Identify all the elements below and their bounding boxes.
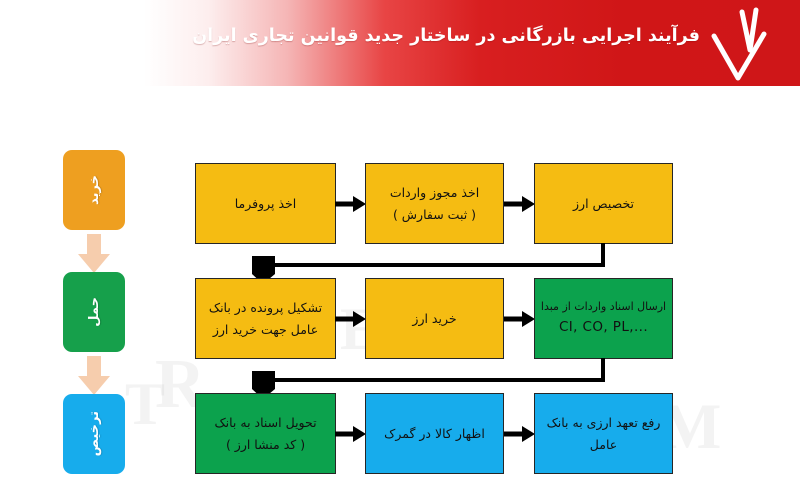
- flow-node[interactable]: اخذ مجوز واردات ( ثبت سفارش ): [365, 163, 504, 244]
- flow-node-line: عامل: [590, 434, 617, 456]
- watermark-letter: T: [125, 370, 165, 439]
- flow-node-line: ( ثبت سفارش ): [393, 204, 476, 226]
- down-arrow-icon: [76, 356, 112, 396]
- flow-node-line: تشکیل پرونده در بانک: [209, 297, 322, 319]
- flow-node[interactable]: تحویل اسناد به بانک ( کد منشا ارز ): [195, 393, 336, 474]
- phase-chip-purchase[interactable]: خرید: [63, 150, 125, 230]
- flow-node-line: اظهار کالا در گمرک: [384, 423, 485, 445]
- flow-node-line: اخذ مجوز واردات: [390, 182, 479, 204]
- flow-node-line: تحویل اسناد به بانک: [214, 412, 316, 434]
- flow-node-line: عامل جهت خرید ارز: [213, 319, 318, 341]
- flow-node-line: CI, CO, PL,...: [559, 316, 648, 340]
- flow-node[interactable]: اظهار کالا در گمرک: [365, 393, 504, 474]
- phase-label: ترخیص: [87, 411, 102, 456]
- phase-label: خرید: [87, 175, 102, 205]
- flow-node-line: رفع تعهد ارزی به بانک: [547, 412, 661, 434]
- flow-node[interactable]: خرید ارز: [365, 278, 504, 359]
- right-arrow-icon: [335, 310, 366, 328]
- chevron-m-logo-icon: [698, 4, 780, 82]
- flow-node[interactable]: اخذ پروفرما: [195, 163, 336, 244]
- flow-node[interactable]: رفع تعهد ارزی به بانک عامل: [534, 393, 673, 474]
- flow-node[interactable]: تخصیص ارز: [534, 163, 673, 244]
- flow-node-line: اخذ پروفرما: [235, 193, 297, 215]
- page-title: فرآیند اجرایی بازرگانی در ساختار جدید قو…: [80, 26, 700, 47]
- flow-node-line: ارسال اسناد واردات از مبدا: [541, 297, 666, 316]
- slide-canvas: R T E P M فرآیند اجرایی بازرگانی در ساخت…: [0, 0, 800, 500]
- phase-chip-clearance[interactable]: ترخیص: [63, 394, 125, 474]
- right-arrow-icon: [504, 195, 535, 213]
- flow-node-line: خرید ارز: [412, 308, 456, 330]
- flow-node-line: تخصیص ارز: [573, 193, 634, 215]
- right-arrow-icon: [335, 425, 366, 443]
- right-arrow-icon: [335, 195, 366, 213]
- right-arrow-icon: [504, 310, 535, 328]
- phase-label: حمل: [87, 297, 102, 327]
- flow-node[interactable]: ارسال اسناد واردات از مبدا CI, CO, PL,..…: [534, 278, 673, 359]
- flow-node[interactable]: تشکیل پرونده در بانک عامل جهت خرید ارز: [195, 278, 336, 359]
- flow-node-line: ( کد منشا ارز ): [226, 434, 305, 456]
- title-banner: فرآیند اجرایی بازرگانی در ساختار جدید قو…: [0, 0, 800, 86]
- phase-chip-transport[interactable]: حمل: [63, 272, 125, 352]
- down-arrow-icon: [76, 234, 112, 274]
- right-arrow-icon: [504, 425, 535, 443]
